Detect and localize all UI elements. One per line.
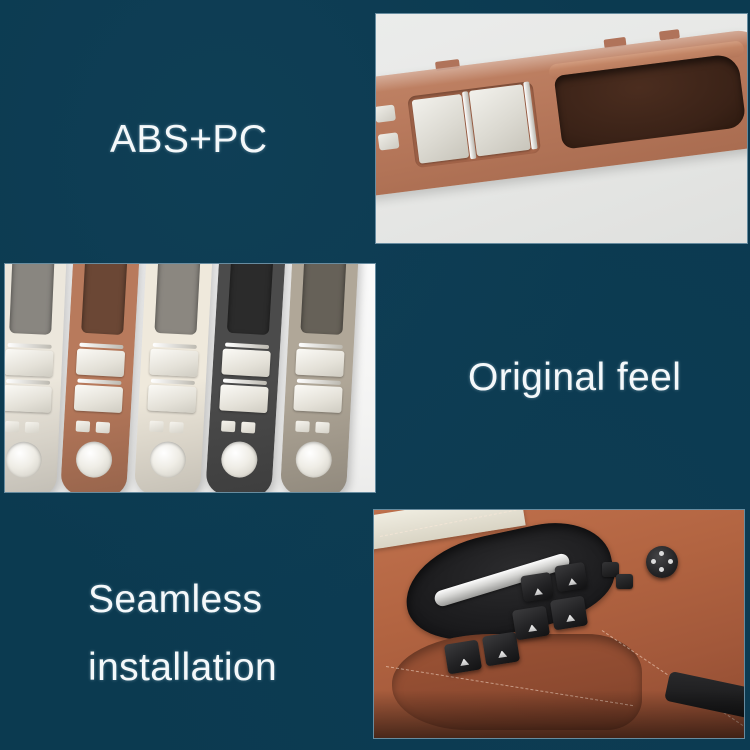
switch-cutout-well (154, 264, 200, 335)
joystick-dot (651, 559, 656, 564)
product-feature-collage: ABS+PC Original feel Seamless installati… (0, 0, 750, 750)
window-switch-blank (149, 349, 198, 377)
photo-bottom-shadow (374, 690, 744, 738)
small-button-cutout (378, 132, 400, 150)
photo-color-variants (5, 264, 375, 492)
photo-installed-door-panel (374, 510, 744, 738)
small-button-cutout (315, 422, 330, 434)
window-switch-blank (74, 384, 123, 413)
color-variant-strip (280, 264, 359, 492)
small-button-cutout (376, 104, 396, 122)
switch-cutout-well (9, 264, 55, 335)
trim-clip-tab (659, 29, 680, 40)
window-switch-blank (221, 348, 270, 377)
caption-seamless-line1: Seamless (88, 578, 262, 622)
switch-cutout-well (227, 264, 274, 335)
mirror-knob-hole (149, 441, 187, 479)
small-button-cutout (241, 422, 256, 434)
joystick-dot (668, 559, 673, 564)
mirror-knob-hole (220, 441, 258, 479)
caption-original-feel: Original feel (468, 356, 681, 400)
window-switch-blank (293, 385, 342, 413)
small-button-cutout (76, 421, 91, 433)
joystick-dot (659, 551, 664, 556)
window-switch-blank (469, 84, 531, 156)
small-button-cutout (25, 422, 39, 434)
trim-clip-tab (604, 37, 627, 49)
window-switch (550, 596, 588, 631)
small-button-cutout (169, 422, 184, 434)
trim-panel-body (376, 28, 747, 198)
photo-brown-trim-panel (376, 14, 747, 243)
mirror-joystick-knob (646, 546, 678, 578)
joystick-dot (659, 567, 664, 572)
window-switch-blank (295, 349, 344, 377)
mirror-knob-hole (295, 441, 333, 479)
switch-cutout-well (300, 264, 346, 335)
color-variant-strip (134, 264, 213, 492)
small-button-cutout (96, 422, 111, 434)
chrome-accent (6, 379, 50, 385)
window-switch-blank (412, 94, 470, 164)
mirror-knob-hole (5, 441, 42, 479)
small-button-cutout (5, 421, 19, 433)
color-variant-strip (5, 264, 67, 492)
caption-material: ABS+PC (110, 118, 267, 162)
mirror-knob-hole (75, 441, 113, 479)
trim-clip-tab (435, 59, 460, 71)
window-switch (512, 606, 550, 641)
window-switch-blank (219, 384, 268, 413)
switch-cutout-well (81, 264, 128, 335)
small-button-cutout (221, 420, 236, 432)
window-switch (520, 572, 554, 602)
window-switch-blank (147, 385, 196, 413)
color-variant-strip (205, 264, 286, 492)
color-variant-strip (60, 264, 140, 492)
window-switch-blank (5, 349, 53, 377)
chrome-accent (8, 343, 52, 349)
child-lock-button (616, 574, 633, 589)
window-switch (554, 562, 588, 592)
window-switch-blank (5, 385, 52, 413)
window-switch (444, 640, 482, 675)
window-switch-blank (76, 348, 125, 377)
small-button-cutout (149, 421, 164, 433)
small-button-cutout (295, 421, 310, 433)
caption-seamless-line2: installation (88, 646, 277, 690)
window-switch (482, 632, 520, 667)
